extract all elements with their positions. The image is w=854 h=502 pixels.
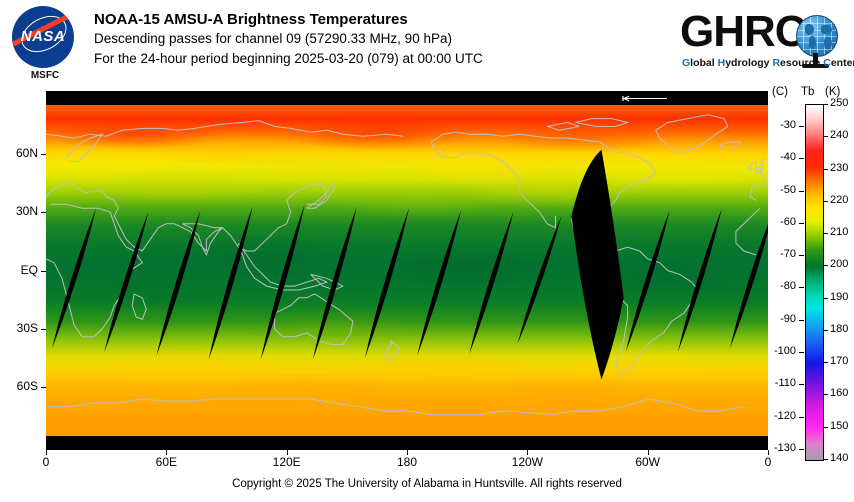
no-data-wedge (417, 210, 461, 356)
colorbar-tick-celsius (799, 223, 804, 224)
globe-parallel (796, 23, 838, 24)
lat-tick (41, 271, 46, 272)
colorbar-tick-celsius (799, 287, 804, 288)
ghrc-tagline: Global Hydrology Resource Center (682, 57, 854, 69)
lat-tick (41, 329, 46, 330)
lon-label: 120W (504, 455, 550, 469)
no-data-wedge (469, 212, 513, 354)
lon-label: 60W (625, 455, 671, 469)
colorbar-tick-celsius (799, 158, 804, 159)
no-data-wedge (626, 210, 670, 352)
ghrc-tagline-part: R (772, 57, 780, 69)
lon-label: 0 (745, 455, 791, 469)
colorbar-tick-celsius (799, 320, 804, 321)
ghrc-tagline-part: esource (780, 57, 823, 69)
no-data-wedge (678, 208, 722, 352)
colorbar-label-celsius: -30 (764, 119, 796, 131)
nasa-meatball-icon: NASA (12, 6, 74, 68)
map-plot-area[interactable] (46, 91, 768, 450)
colorbar-tick-kelvin (823, 330, 828, 331)
colorbar-tick-kelvin (823, 394, 828, 395)
no-data-wedge (104, 212, 148, 352)
lon-label: 0 (23, 455, 69, 469)
colorbar-gradient (806, 105, 823, 460)
colorbar-tick-kelvin (823, 136, 828, 137)
title-block: NOAA-15 AMSU-A Brightness Temperatures D… (94, 11, 483, 69)
colorbar-tick-celsius (799, 191, 804, 192)
colorbar-label-celsius: -120 (764, 410, 796, 422)
colorbar-label-celsius: -70 (764, 248, 796, 260)
lat-tick (41, 212, 46, 213)
colorbar-tick-kelvin (823, 104, 828, 105)
no-data-wedge-major (572, 150, 624, 380)
ghrc-tagline-part: lobal (690, 57, 717, 69)
nasa-wordmark: NASA (12, 28, 74, 45)
page-title: NOAA-15 AMSU-A Brightness Temperatures (94, 11, 483, 29)
lat-label: 30S (2, 321, 38, 335)
ghrc-logo: GHRC Global Hydrology Resource Center (676, 7, 848, 79)
colorbar-tick-kelvin (823, 362, 828, 363)
colorbar-tick-kelvin (823, 265, 828, 266)
lat-tick (41, 154, 46, 155)
colorbar-label-kelvin: 170 (830, 355, 848, 367)
colorbar-label-kelvin: 150 (830, 420, 848, 432)
colorbar-label-kelvin: 180 (830, 323, 848, 335)
colorbar-label-celsius: -90 (764, 313, 796, 325)
no-data-wedge (261, 204, 305, 360)
colorbar-label-kelvin: 240 (830, 129, 848, 141)
colorbar-tick-celsius (799, 126, 804, 127)
colorbar-label-kelvin: 140 (830, 452, 848, 464)
no-data-wedge (730, 208, 768, 348)
ghrc-wordmark: GHRC (680, 7, 806, 57)
subtitle-channel: Descending passes for channel 09 (57290.… (94, 29, 483, 49)
no-data-wedge (517, 216, 561, 345)
ghrc-globe-icon (796, 15, 838, 57)
ghrc-tagline-part: ydrology (725, 57, 772, 69)
no-data-wedge (156, 210, 200, 356)
lon-label: 60E (143, 455, 189, 469)
no-data-wedge (365, 208, 409, 358)
colorbar-tick-celsius (799, 352, 804, 353)
subtitle-period: For the 24-hour period beginning 2025-03… (94, 49, 483, 69)
colorbar-tick-kelvin (823, 233, 828, 234)
no-data-wedge (313, 206, 357, 360)
colorbar-tick-kelvin (823, 201, 828, 202)
colorbar-label-kelvin: 190 (830, 291, 848, 303)
colorbar-tick-kelvin (823, 169, 828, 170)
ghrc-tagline-part: C (823, 57, 831, 69)
colorbar-label-celsius: -60 (764, 216, 796, 228)
globe-parallel (796, 49, 838, 50)
colorbar-unit-celsius: (C) (772, 86, 788, 98)
colorbar-label-celsius: -40 (764, 151, 796, 163)
lat-label: 60S (2, 379, 38, 393)
colorbar-label-celsius: -50 (764, 184, 796, 196)
colorbar-tick-kelvin (823, 298, 828, 299)
lat-label: EQ (2, 263, 38, 277)
globe-landmass (821, 25, 832, 34)
colorbar-label-celsius: -110 (764, 377, 796, 389)
colorbar-tick-celsius (799, 417, 804, 418)
no-data-swath-gaps (46, 105, 768, 436)
colorbar[interactable] (805, 104, 824, 461)
colorbar-tick-kelvin (823, 459, 828, 460)
scale-arrow-icon (621, 95, 681, 102)
colorbar-label-celsius: -80 (764, 280, 796, 292)
globe-landmass (809, 36, 816, 49)
lon-label: 180 (384, 455, 430, 469)
colorbar-label-kelvin: 250 (830, 97, 848, 109)
copyright-notice: Copyright © 2025 The University of Alaba… (0, 478, 854, 490)
lon-label: 120E (264, 455, 310, 469)
colorbar-tick-celsius (799, 255, 804, 256)
lat-tick (41, 387, 46, 388)
colorbar-tick-kelvin (823, 427, 828, 428)
colorbar-label-kelvin: 200 (830, 258, 848, 270)
colorbar-label-celsius: -100 (764, 345, 796, 357)
colorbar-label-kelvin: 220 (830, 194, 848, 206)
nasa-center-label: MSFC (12, 70, 78, 81)
brightness-temperature-field (46, 105, 768, 436)
lat-label: 30N (2, 204, 38, 218)
colorbar-label-kelvin: 160 (830, 387, 848, 399)
colorbar-title: Tb (801, 86, 814, 98)
colorbar-label-celsius: -130 (764, 442, 796, 454)
globe-landmass (824, 37, 832, 49)
lat-label: 60N (2, 146, 38, 160)
ghrc-tagline-part: enter (831, 57, 854, 69)
globe-parallel (796, 36, 838, 37)
ghrc-tagline-part: G (682, 57, 690, 69)
globe-landmass (805, 24, 814, 35)
no-data-wedge (52, 208, 96, 348)
nasa-logo: NASA MSFC (12, 6, 78, 84)
colorbar-label-kelvin: 210 (830, 226, 848, 238)
colorbar-tick-celsius (799, 384, 804, 385)
colorbar-label-kelvin: 230 (830, 162, 848, 174)
no-data-wedge (209, 206, 253, 360)
colorbar-tick-celsius (799, 449, 804, 450)
